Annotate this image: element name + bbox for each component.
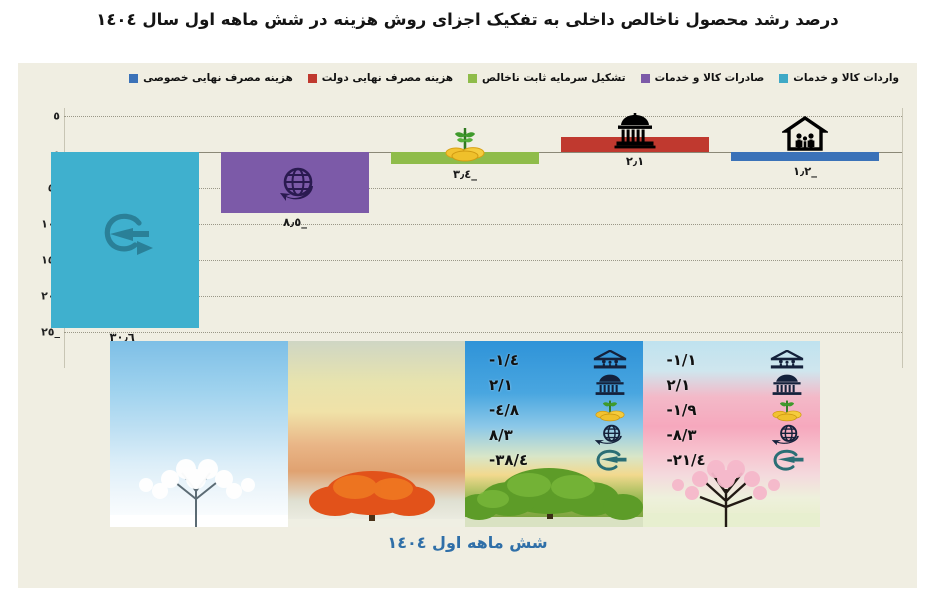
season-value: ٨/٣ [475,426,587,444]
bar-imports[interactable] [51,152,199,328]
coins-plant-icon [764,398,810,422]
legend-swatch-imports [779,74,788,83]
season-panel-winter [110,341,288,527]
legend-item-capital-formation[interactable]: تشکیل سرمایه ثابت ناخالص [468,73,626,84]
chart-page: درصد رشد محصول ناخالص داخلی به تفکیک اجز… [0,0,935,605]
season-panel-summer: -١/٤ ٢/١ [465,341,643,527]
season-value: ٢/١ [653,376,765,394]
government-icon [764,373,810,397]
legend-item-private-consumption[interactable]: هزینه مصرف نهایی خصوصی [129,73,293,84]
season-value: -١/٤ [475,351,587,369]
legend-item-government-consumption[interactable]: هزینه مصرف نهایی دولت [308,73,453,84]
bar-slot-capital-formation: _٣٫٤ [385,108,545,368]
legend-swatch-exports [641,74,650,83]
bar-series: _١٫٢ [64,108,903,368]
season-row-imports: -٢١/٤ [653,447,811,472]
bar-chart-plot: ٥ ٠ _٥ _١٠ _١٥ _٢٠ _٢٥ [18,108,917,368]
season-row-private-consumption: -١/١ [653,347,811,372]
season-value: -١/٩ [653,401,765,419]
season-values-spring: -١/١ ٢/١ [643,347,821,472]
bar-capital-formation[interactable] [391,152,539,164]
coins-plant-icon [587,398,633,422]
page-title: درصد رشد محصول ناخالص داخلی به تفکیک اجز… [0,10,935,29]
legend-item-exports[interactable]: صادرات کالا و خدمات [641,73,765,84]
winter-tree-icon [110,455,288,527]
bar-label-exports: _٨٫٥ [283,215,307,229]
season-value: -٣٨/٤ [475,451,587,469]
season-row-capital-formation: -٤/٨ [475,397,633,422]
legend-label-private-consumption: هزینه مصرف نهایی خصوصی [143,73,293,84]
government-icon [587,373,633,397]
legend-swatch-government-consumption [308,74,317,83]
seasonal-caption: شش ماهه اول ١٤٠٤ [18,533,917,552]
bar-label-private-consumption: _١٫٢ [793,164,817,178]
season-row-government-consumption: ٢/١ [653,372,811,397]
season-row-private-consumption: -١/٤ [475,347,633,372]
legend-swatch-capital-formation [468,74,477,83]
autumn-tree-icon [288,455,466,527]
season-row-government-consumption: ٢/١ [475,372,633,397]
seasonal-panels: -١/١ ٢/١ [110,341,820,527]
season-value: ٢/١ [475,376,587,394]
house-family-icon [587,350,633,370]
season-panel-autumn [288,341,466,527]
season-value: -٢١/٤ [653,451,765,469]
bar-slot-private-consumption: _١٫٢ [725,108,885,368]
season-value: -١/١ [653,351,765,369]
import-arrow-icon [764,448,810,472]
legend-swatch-private-consumption [129,74,138,83]
season-value: -٤/٨ [475,401,587,419]
bar-slot-exports: _٨٫٥ [215,108,375,368]
bar-slot-imports: _٣٠٫٦ [45,108,205,368]
legend-label-government-consumption: هزینه مصرف نهایی دولت [322,73,453,84]
bar-label-capital-formation: _٣٫٤ [453,167,477,181]
season-values-summer: -١/٤ ٢/١ [465,347,643,472]
legend-label-exports: صادرات کالا و خدمات [655,73,765,84]
season-value: -٨/٣ [653,426,765,444]
season-panel-spring: -١/١ ٢/١ [643,341,821,527]
house-family-icon [764,350,810,370]
globe-icon [764,424,810,446]
bar-exports[interactable] [221,152,369,213]
bar-label-government-consumption: ٢٫١ [626,154,644,168]
season-row-imports: -٣٨/٤ [475,447,633,472]
bar-government-consumption[interactable] [561,137,709,152]
season-row-exports: ٨/٣ [475,422,633,447]
chart-legend: واردات کالا و خدمات صادرات کالا و خدمات … [129,73,899,84]
season-row-capital-formation: -١/٩ [653,397,811,422]
season-row-exports: -٨/٣ [653,422,811,447]
import-arrow-icon [587,448,633,472]
legend-label-imports: واردات کالا و خدمات [793,73,899,84]
globe-icon [587,424,633,446]
bar-private-consumption[interactable] [731,152,879,161]
legend-item-imports[interactable]: واردات کالا و خدمات [779,73,899,84]
chart-card: واردات کالا و خدمات صادرات کالا و خدمات … [18,63,917,588]
legend-label-capital-formation: تشکیل سرمایه ثابت ناخالص [482,73,626,84]
bar-slot-government-consumption: ٢٫١ [555,108,715,368]
